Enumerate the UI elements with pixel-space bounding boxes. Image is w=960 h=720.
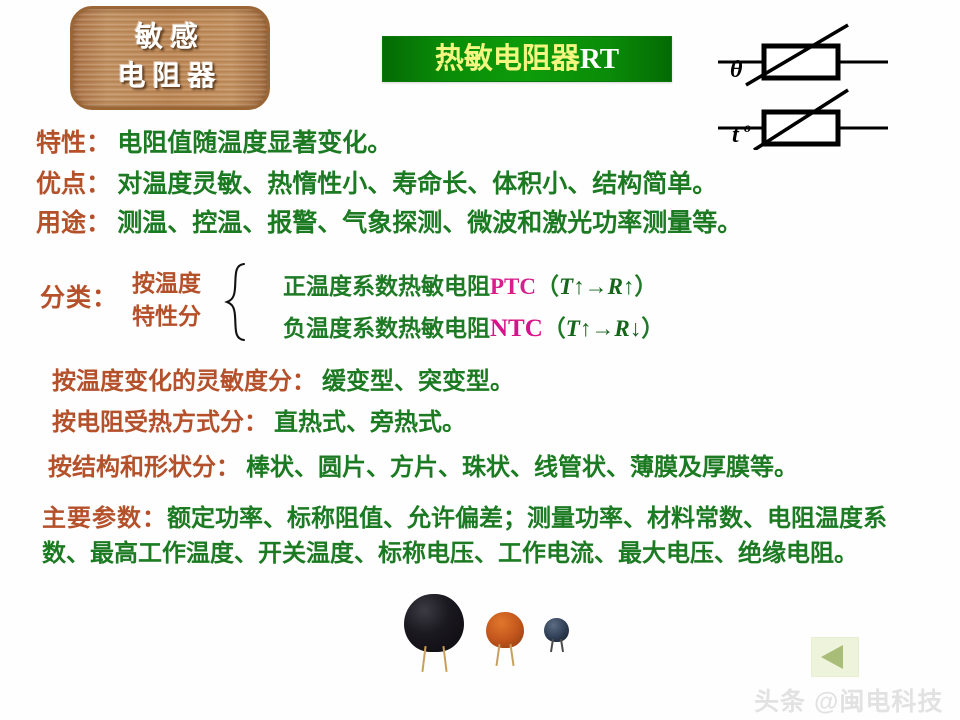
- classification-brace: [224, 262, 250, 342]
- large-thermistor-body: [404, 594, 464, 652]
- ntc-arrow-r: ↓: [630, 316, 642, 341]
- classification-criterion: 按温度 特性分: [132, 268, 201, 333]
- parameters-label: 主要参数：: [42, 506, 167, 532]
- photo-small-blue-thermistor: [544, 618, 570, 652]
- banner-text: 热敏电阻器RT: [435, 45, 619, 74]
- parameters-paragraph: 主要参数：额定功率、标称阻值、允许偏差；测量功率、材料常数、电阻温度系数、最高工…: [42, 502, 932, 572]
- thermistor-symbols-group: θ t o: [706, 22, 956, 150]
- row-advantages: 优点： 对温度灵敏、热惰性小、寿命长、体积小、结构简单。: [36, 172, 717, 197]
- symbol-theta-label: θ: [730, 57, 743, 83]
- row-shape-classification: 按结构和形状分： 棒状、圆片、方片、珠状、线管状、薄膜及厚膜等。: [48, 456, 798, 480]
- classification-items: 正温度系数热敏电阻PTC（T↑→R↑） 负温度系数热敏电阻NTC（T↑→R↓）: [283, 267, 664, 350]
- ntc-paren-open: （: [543, 316, 566, 341]
- row-heating-value: 直热式、旁热式。: [274, 410, 466, 436]
- ntc-arrow-t: ↑: [580, 316, 592, 341]
- photo-large-black-thermistor: [404, 594, 464, 656]
- ntc-text: 负温度系数热敏电阻: [283, 316, 490, 341]
- row-characteristics-label: 特性：: [36, 130, 111, 157]
- ptc-paren-open: （: [536, 274, 559, 299]
- ntc-var-r: R: [614, 316, 629, 341]
- watermark-text: 头条 @闽电科技: [754, 682, 943, 718]
- small-thermistor-lead-right: [560, 639, 564, 652]
- row-sensitivity-label: 按温度变化的灵敏度分：: [52, 369, 316, 395]
- small-thermistor-lead-left: [550, 639, 554, 652]
- medium-thermistor-lead-left: [495, 644, 500, 666]
- banner-code-label: RT: [580, 43, 619, 75]
- ptc-var-t: T: [559, 274, 573, 299]
- classification-criterion-line-1: 按温度: [132, 268, 201, 301]
- curly-brace-icon: [224, 262, 250, 342]
- play-triangle-left-icon: [821, 645, 843, 669]
- row-characteristics-value: 电阻值随温度显著变化。: [117, 130, 392, 157]
- section-banner: 热敏电阻器RT: [382, 36, 672, 82]
- plaque-line-2: 电阻器: [117, 58, 222, 97]
- symbol-t-superscript: o: [744, 121, 751, 136]
- medium-thermistor-lead-right: [509, 644, 514, 666]
- ptc-code: PTC: [490, 274, 536, 299]
- row-sensitivity-value: 缓变型、突变型。: [322, 369, 514, 395]
- row-heating-classification: 按电阻受热方式分： 直热式、旁热式。: [52, 411, 466, 435]
- small-thermistor-body: [544, 618, 569, 642]
- parameters-text: 额定功率、标称阻值、允许偏差；测量功率、材料常数、电阻温度系数、最高工作温度、开…: [42, 506, 887, 567]
- row-sensitivity-classification: 按温度变化的灵敏度分： 缓变型、突变型。: [52, 370, 514, 394]
- plaque-line-1: 敏感: [135, 19, 205, 58]
- classification-item-ntc: 负温度系数热敏电阻NTC（T↑→R↓）: [283, 307, 664, 350]
- banner-chinese-label: 热敏电阻器: [435, 43, 580, 75]
- classification-criterion-line-2: 特性分: [132, 301, 201, 334]
- ptc-var-r: R: [608, 274, 623, 299]
- ntc-implies: →: [591, 316, 614, 341]
- row-advantages-value: 对温度灵敏、热惰性小、寿命长、体积小、结构简单。: [117, 171, 717, 198]
- ntc-paren-close: ）: [641, 316, 664, 341]
- photo-medium-orange-thermistor: [486, 612, 524, 656]
- ptc-arrow-r: ↑: [623, 274, 635, 299]
- row-uses-value: 测温、控温、报警、气象探测、微波和激光功率测量等。: [117, 210, 742, 237]
- row-uses-label: 用途：: [36, 210, 111, 237]
- medium-thermistor-body: [486, 612, 524, 648]
- thermistor-symbol-svg: θ t o: [706, 22, 956, 150]
- ntc-var-t: T: [566, 316, 580, 341]
- ptc-implies: →: [585, 274, 608, 299]
- row-characteristics: 特性： 电阻值随温度显著变化。: [36, 131, 392, 156]
- row-shape-value: 棒状、圆片、方片、珠状、线管状、薄膜及厚膜等。: [246, 455, 798, 481]
- ntc-code: NTC: [490, 315, 543, 342]
- row-uses: 用途： 测温、控温、报警、气象探测、微波和激光功率测量等。: [36, 211, 742, 236]
- ptc-arrow-t: ↑: [573, 274, 585, 299]
- row-shape-label: 按结构和形状分：: [48, 455, 240, 481]
- thermistor-photos: [404, 592, 584, 678]
- slide-canvas: 敏感 电阻器 热敏电阻器RT θ t o 特性： 电阻值随温度显著变化。 优点：…: [0, 0, 960, 720]
- title-plaque: 敏感 电阻器: [70, 6, 270, 110]
- classification-label: 分类：: [40, 278, 118, 314]
- ptc-text: 正温度系数热敏电阻: [283, 274, 490, 299]
- ptc-paren-close: ）: [634, 274, 657, 299]
- row-advantages-label: 优点：: [36, 171, 111, 198]
- classification-item-ptc: 正温度系数热敏电阻PTC（T↑→R↑）: [283, 267, 664, 307]
- symbol-t-label: t: [732, 122, 740, 148]
- row-heating-label: 按电阻受热方式分：: [52, 410, 268, 436]
